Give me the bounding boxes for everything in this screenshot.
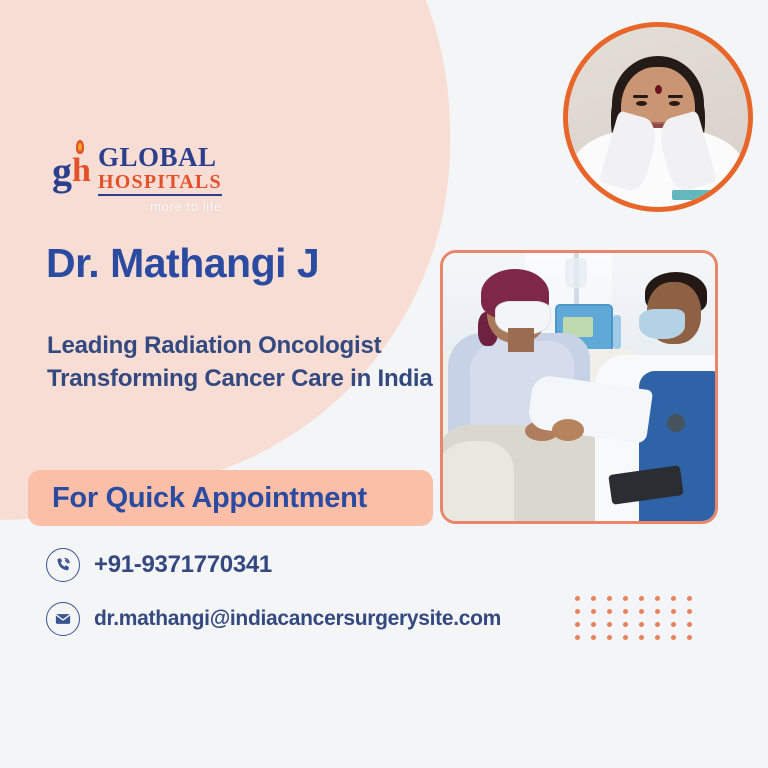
appointment-banner[interactable]: For Quick Appointment (28, 470, 433, 526)
page-title: Dr. Mathangi J (46, 240, 319, 287)
logo-letter-h: h (72, 154, 91, 188)
appointment-banner-label: For Quick Appointment (52, 482, 367, 515)
doctor-portrait-image (568, 27, 748, 207)
doctor-face-mask (639, 309, 685, 339)
logo-monogram-icon: g h (52, 140, 94, 196)
email-address: dr.mathangi@indiacancersurgerysite.com (94, 607, 501, 631)
page-subtitle: Leading Radiation Oncologist Transformin… (47, 330, 447, 395)
logo-letter-g: g (52, 152, 72, 192)
doctor-hand (552, 419, 584, 441)
bindi-detail (655, 85, 662, 94)
logo-wordmark: GLOBAL HOSPITALS more to life (98, 140, 222, 214)
global-hospitals-logo: g h GLOBAL HOSPITALS more to life (52, 140, 222, 214)
phone-icon (46, 548, 80, 582)
envelope-icon (46, 602, 80, 636)
clinic-photo (440, 250, 718, 524)
logo-name-hospitals: HOSPITALS (98, 171, 222, 196)
coat-logo-badge (672, 190, 716, 200)
flame-inner-icon (78, 143, 82, 151)
stethoscope-icon (667, 414, 685, 432)
dot-grid-decoration (575, 596, 703, 648)
doctor-portrait (563, 22, 753, 212)
contact-row-email[interactable]: dr.mathangi@indiacancersurgerysite.com (46, 602, 501, 636)
phone-number: +91-9371770341 (94, 551, 272, 579)
logo-tagline: more to life (98, 199, 222, 214)
clinic-photo-image (443, 253, 715, 521)
contact-row-phone[interactable]: +91-9371770341 (46, 548, 272, 582)
logo-name-global: GLOBAL (98, 144, 222, 171)
iv-bag (565, 258, 587, 288)
